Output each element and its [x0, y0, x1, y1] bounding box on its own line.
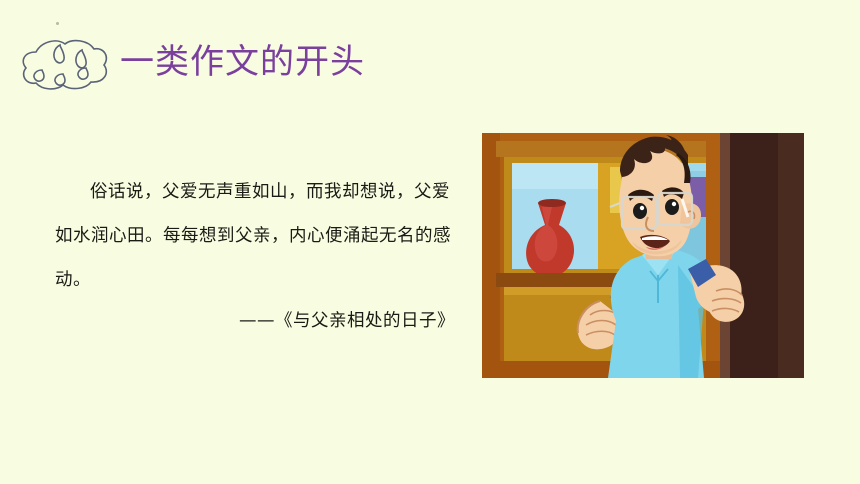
attribution-line: ——《与父亲相处的日子》 [55, 305, 455, 337]
title-block: 一类作文的开头 [0, 0, 420, 110]
body-text: 俗话说，父爱无声重如山，而我却想说，父爱如水润心田。每每想到父亲，内心便涌起无名… [55, 170, 455, 302]
body-paragraph: 俗话说，父爱无声重如山，而我却想说，父爱如水润心田。每每想到父亲，内心便涌起无名… [55, 170, 455, 302]
decorative-dot [56, 22, 59, 25]
page-title: 一类作文的开头 [120, 40, 365, 84]
cartoon-father-illustration [482, 133, 804, 378]
slide-canvas: 一类作文的开头 俗话说，父爱无声重如山，而我却想说，父爱如水润心田。每每想到父亲… [0, 0, 860, 484]
cloud-icon [16, 30, 114, 92]
